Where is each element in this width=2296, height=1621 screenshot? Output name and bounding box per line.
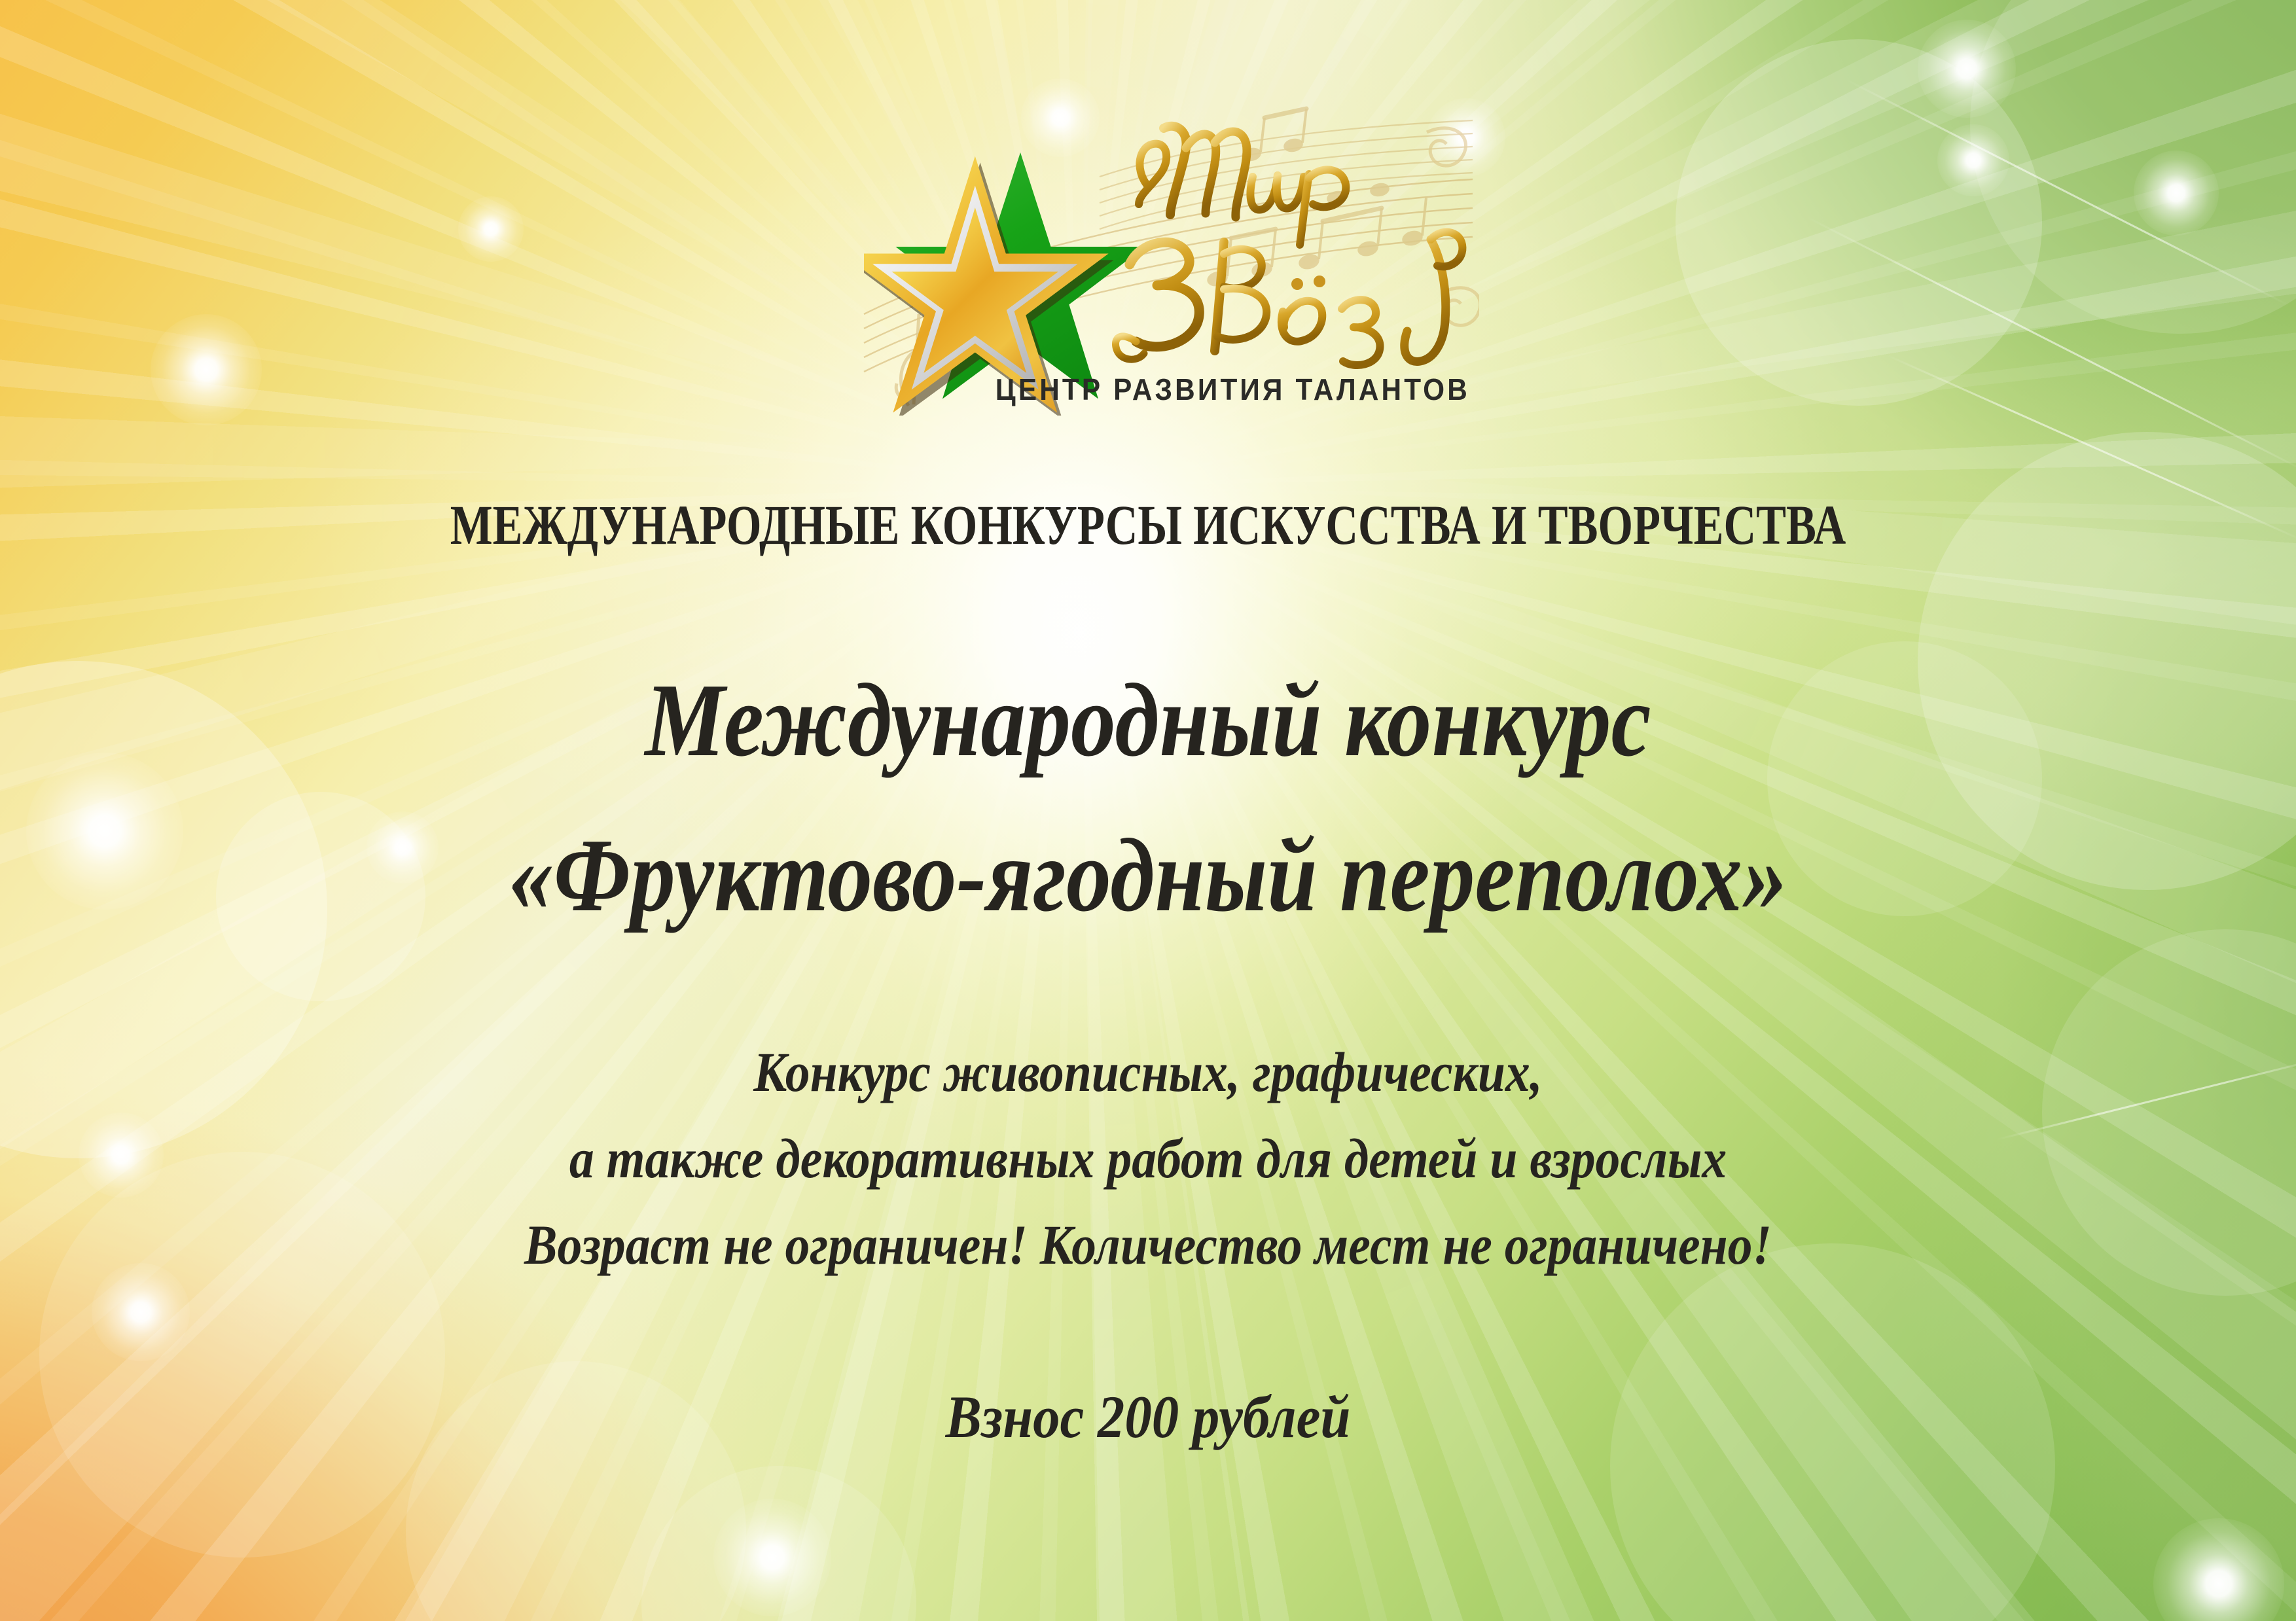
sparkle-icon <box>1918 20 2016 118</box>
sparkle-icon <box>2153 1518 2284 1621</box>
bubble-corner-right <box>1970 0 2296 334</box>
sparkle-icon <box>1937 124 2009 196</box>
sparkle-icon <box>92 1263 190 1361</box>
streak-line <box>1806 216 2296 473</box>
logo: ЦЕНТР РАЗВИТИЯ ТАЛАНТОВ <box>851 98 1479 425</box>
sparkle-icon <box>26 753 183 910</box>
bubble-top-right <box>1676 39 2042 406</box>
logo-tagline: ЦЕНТР РАЗВИТИЯ ТАЛАНТОВ <box>996 372 1459 407</box>
contest-title-line-1: Международный конкурс <box>161 660 2136 781</box>
sparkle-icon <box>713 1499 831 1616</box>
bubble-bottom-center <box>641 1466 916 1621</box>
contest-title-line-2: «Фруктово-ягодный переполох» <box>161 815 2136 936</box>
sparkle-icon <box>151 314 262 425</box>
poster-canvas: ЦЕНТР РАЗВИТИЯ ТАЛАНТОВ МЕЖДУНАРОДНЫЕ КО… <box>0 0 2296 1621</box>
streak-line <box>1845 79 2289 306</box>
description-line-2: а также декоративных работ для детей и в… <box>137 1126 2158 1191</box>
description-line-3: Возраст не ограничен! Количество мест не… <box>137 1212 2158 1277</box>
sparkle-icon <box>2134 151 2219 236</box>
entry-fee-line: Взнос 200 рублей <box>115 1382 2181 1452</box>
header-line: МЕЖДУНАРОДНЫЕ КОНКУРСЫ ИСКУССТВА И ТВОРЧ… <box>230 492 2066 558</box>
description-line-1: Конкурс живописных, графических, <box>137 1039 2158 1105</box>
sparkle-icon <box>458 196 524 262</box>
